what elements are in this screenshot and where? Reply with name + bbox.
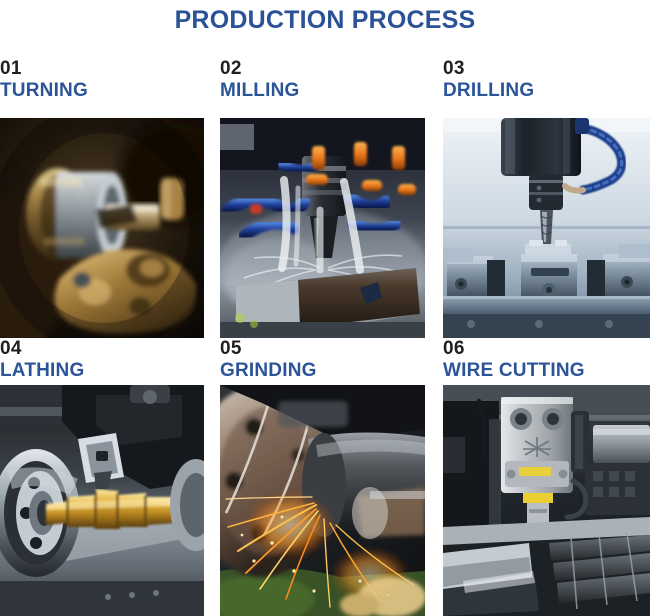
process-steps-grid: 01 TURNING 02 MILLING 03 DRILLING bbox=[0, 58, 650, 616]
wire-cutting-photo bbox=[443, 385, 650, 616]
step-name-06: WIRE CUTTING bbox=[443, 359, 650, 382]
drilling-photo bbox=[443, 118, 650, 338]
grinding-photo bbox=[220, 385, 425, 616]
wire-cutting-photo-art bbox=[443, 385, 650, 616]
step-label-01: 01 TURNING bbox=[0, 58, 204, 118]
step-label-05: 05 GRINDING bbox=[220, 338, 425, 385]
grid-gutter bbox=[204, 58, 220, 118]
step-label-06: 06 WIRE CUTTING bbox=[443, 338, 650, 385]
grid-gutter bbox=[204, 385, 220, 616]
grinding-photo-art bbox=[220, 385, 425, 616]
step-label-03: 03 DRILLING bbox=[443, 58, 650, 118]
step-name-01: TURNING bbox=[0, 79, 204, 102]
milling-photo-art bbox=[220, 118, 425, 338]
step-name-05: GRINDING bbox=[220, 359, 425, 382]
step-number-06: 06 bbox=[443, 338, 650, 359]
step-number-03: 03 bbox=[443, 58, 650, 79]
grid-gutter bbox=[425, 385, 443, 616]
page-title: PRODUCTION PROCESS bbox=[0, 6, 650, 35]
step-name-02: MILLING bbox=[220, 79, 425, 102]
step-label-02: 02 MILLING bbox=[220, 58, 425, 118]
grid-gutter bbox=[425, 58, 443, 118]
grid-gutter bbox=[204, 338, 220, 385]
drilling-photo-art bbox=[443, 118, 650, 338]
milling-photo bbox=[220, 118, 425, 338]
grid-gutter bbox=[204, 118, 220, 338]
step-number-01: 01 bbox=[0, 58, 204, 79]
step-number-05: 05 bbox=[220, 338, 425, 359]
turning-photo-art bbox=[0, 118, 204, 338]
step-name-03: DRILLING bbox=[443, 79, 650, 102]
step-number-02: 02 bbox=[220, 58, 425, 79]
turning-photo bbox=[0, 118, 204, 338]
lathing-photo bbox=[0, 385, 204, 616]
grid-gutter bbox=[425, 338, 443, 385]
grid-gutter bbox=[425, 118, 443, 338]
step-name-04: LATHING bbox=[0, 359, 204, 382]
step-number-04: 04 bbox=[0, 338, 204, 359]
production-process-infographic: PRODUCTION PROCESS 01 TURNING 02 MILLING… bbox=[0, 0, 650, 616]
step-label-04: 04 LATHING bbox=[0, 338, 204, 385]
lathing-photo-art bbox=[0, 385, 204, 616]
